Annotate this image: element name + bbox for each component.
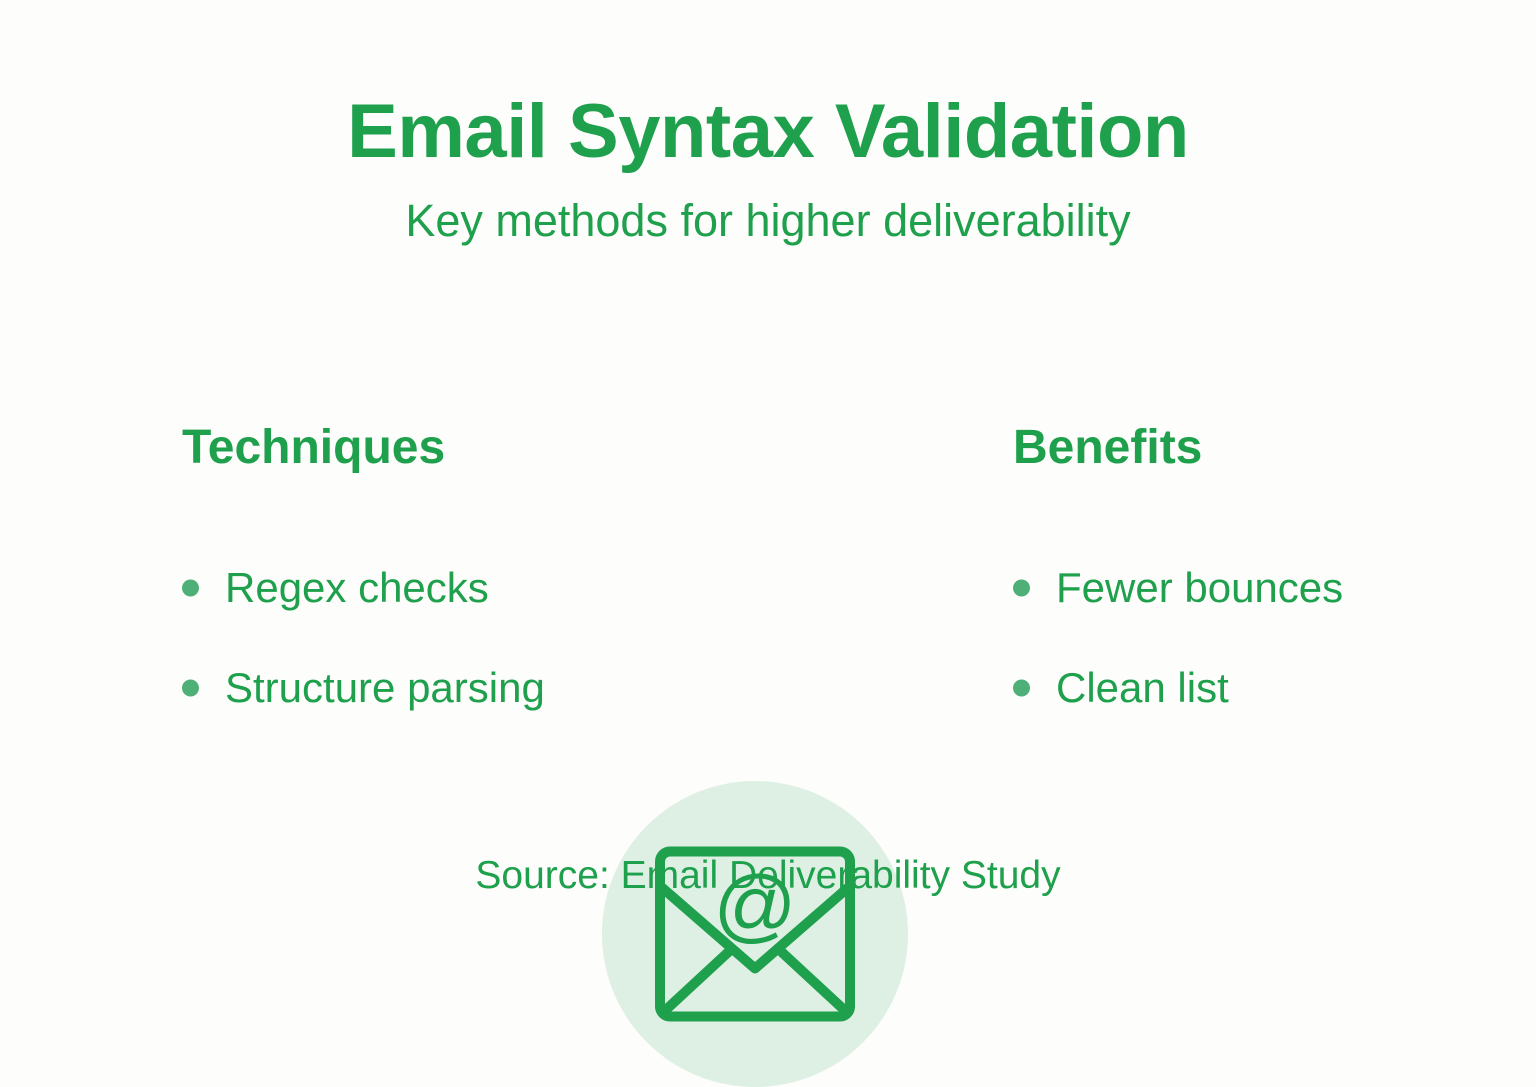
techniques-list: Regex checks Structure parsing [182, 567, 582, 709]
list-item-label: Structure parsing [225, 664, 545, 711]
page-subtitle: Key methods for higher deliverability [0, 196, 1536, 246]
content-columns: Techniques Regex checks Structure parsin… [0, 424, 1536, 724]
bullet-dot-icon [1013, 680, 1030, 697]
page-title: Email Syntax Validation [0, 92, 1536, 172]
list-item-label: Clean list [1056, 664, 1229, 711]
source-citation: Source: Email Deliverability Study [0, 855, 1536, 898]
footer-block: Source: Email Deliverability Study [0, 855, 1536, 898]
bullet-dot-icon [182, 680, 199, 697]
column-benefits: Benefits Fewer bounces Clean list [1013, 424, 1433, 709]
list-item: Regex checks [182, 567, 582, 609]
list-item-label: Regex checks [225, 564, 489, 611]
infographic-slide: Email Syntax Validation Key methods for … [0, 0, 1536, 1024]
benefits-heading: Benefits [1013, 424, 1433, 472]
column-techniques: Techniques Regex checks Structure parsin… [182, 424, 582, 709]
techniques-heading: Techniques [182, 424, 582, 472]
center-icon-block: @ [602, 781, 908, 1087]
benefits-list: Fewer bounces Clean list [1013, 567, 1433, 709]
list-item: Structure parsing [182, 667, 582, 709]
bullet-dot-icon [1013, 580, 1030, 597]
list-item: Clean list [1013, 667, 1433, 709]
list-item-label: Fewer bounces [1056, 564, 1343, 611]
bullet-dot-icon [182, 580, 199, 597]
header-block: Email Syntax Validation Key methods for … [0, 92, 1536, 245]
list-item: Fewer bounces [1013, 567, 1433, 609]
